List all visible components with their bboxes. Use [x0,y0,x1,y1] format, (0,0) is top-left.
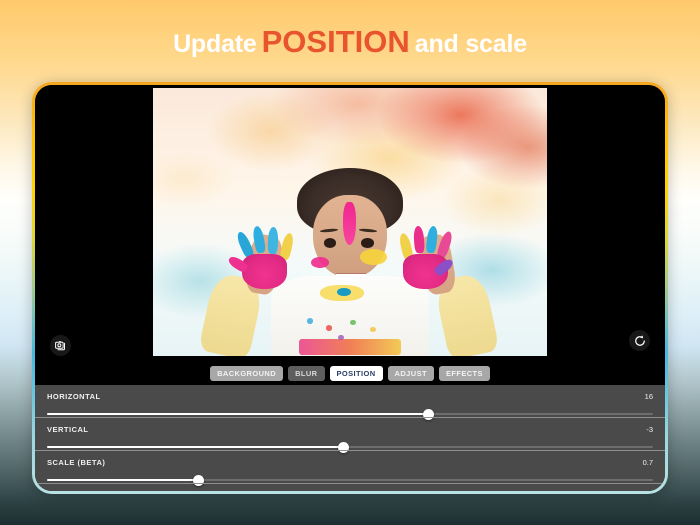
photo-library-button[interactable] [50,335,71,356]
mode-tab-bar[interactable]: BACKGROUND BLUR POSITION ADJUST EFFECTS [35,362,665,385]
device-frame: BACKGROUND BLUR POSITION ADJUST EFFECTS … [32,82,668,494]
slider-value-scale: 0.7 [643,458,653,467]
slider-row-scale: SCALE (BETA) 0.7 [35,451,665,484]
photo-subject [153,88,547,356]
eye-right [361,238,373,248]
paint-chin-blue [337,288,350,296]
title-lead: Update [173,30,257,58]
paint-cheek-yellow [360,249,388,265]
page-title: UpdatePOSITIONand scale [0,24,700,60]
tab-adjust[interactable]: ADJUST [388,366,434,381]
shirt-dot [326,325,332,330]
paint-forehead [343,202,356,245]
position-controls-panel: HORIZONTAL 16 VERTICAL -3 [35,385,665,491]
tab-blur[interactable]: BLUR [288,366,324,381]
palm-left [242,254,287,289]
finger [413,226,425,253]
slider-label-vertical: VERTICAL [47,425,89,434]
shirt-dot [307,318,313,323]
editor-canvas[interactable] [35,85,665,372]
row-divider [35,483,665,484]
slider-value-horizontal: 16 [645,392,653,401]
reset-button[interactable] [629,330,650,351]
slider-thumb-scale[interactable] [193,475,204,486]
paint-cheek-pink [311,257,329,268]
shirt-dot [338,335,344,340]
slider-fill [47,479,199,481]
title-emphasis: POSITION [262,24,410,59]
photo-library-icon [55,340,67,351]
shirt-dot [370,327,376,332]
tab-position[interactable]: POSITION [330,366,383,381]
shirt-graphic [299,339,401,355]
photo-image [153,88,547,356]
reset-rotate-icon [634,335,646,347]
slider-value-vertical: -3 [646,425,653,434]
slider-fill [47,446,344,448]
shirt-dot [350,320,356,325]
slider-row-vertical: VERTICAL -3 [35,418,665,451]
title-trail: and scale [415,30,527,58]
slider-row-horizontal: HORIZONTAL 16 [35,385,665,418]
slider-label-scale: SCALE (BETA) [47,458,105,467]
slider-fill [47,413,429,415]
eye-left [324,238,336,248]
slider-label-horizontal: HORIZONTAL [47,392,101,401]
tab-effects[interactable]: EFFECTS [439,366,490,381]
device-screen: BACKGROUND BLUR POSITION ADJUST EFFECTS … [35,85,665,491]
tab-background[interactable]: BACKGROUND [210,366,283,381]
photo-preview[interactable] [153,88,547,356]
